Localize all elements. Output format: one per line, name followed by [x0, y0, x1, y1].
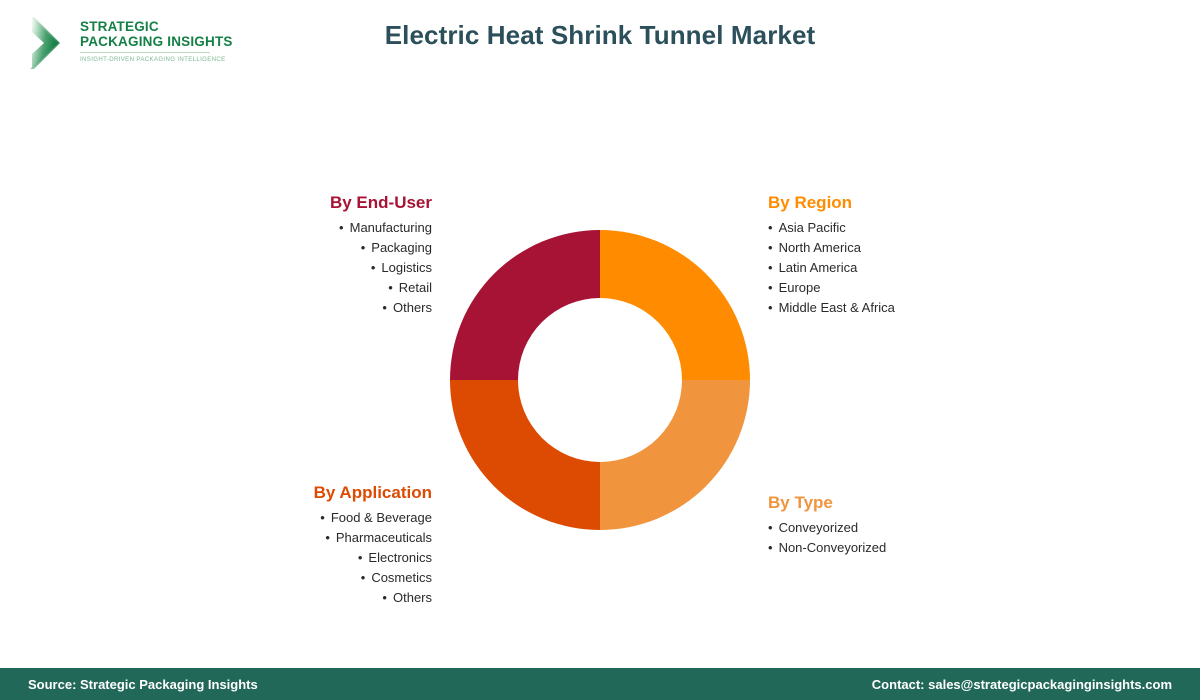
logo-tagline: INSIGHT-DRIVEN PACKAGING INTELLIGENCE [80, 56, 210, 63]
footer-contact: Contact: sales@strategicpackaginginsight… [872, 677, 1172, 692]
segment-block-application: By Application Food & Beverage Pharmaceu… [180, 483, 432, 608]
segment-list-application: Food & Beverage Pharmaceuticals Electron… [180, 508, 432, 608]
segment-block-end-user: By End-User Manufacturing Packaging Logi… [180, 193, 432, 318]
header: STRATEGIC PACKAGING INSIGHTS INSIGHT-DRI… [0, 0, 1200, 90]
donut-segment-region[interactable] [600, 230, 750, 380]
list-item: Food & Beverage [180, 508, 432, 528]
segment-title-region: By Region [768, 193, 1068, 213]
list-item: Pharmaceuticals [180, 528, 432, 548]
list-item: Others [180, 298, 432, 318]
list-item: Europe [768, 278, 1068, 298]
donut-segment-type[interactable] [600, 380, 750, 530]
list-item: Retail [180, 278, 432, 298]
donut-segment-application[interactable] [450, 380, 600, 530]
list-item: Non-Conveyorized [768, 538, 1068, 558]
segment-list-type: Conveyorized Non-Conveyorized [768, 518, 1068, 558]
segment-block-region: By Region Asia Pacific North America Lat… [768, 193, 1068, 318]
list-item: Middle East & Africa [768, 298, 1068, 318]
segment-title-application: By Application [180, 483, 432, 503]
list-item: Asia Pacific [768, 218, 1068, 238]
segment-title-end-user: By End-User [180, 193, 432, 213]
footer-source: Source: Strategic Packaging Insights [28, 677, 258, 692]
donut-chart [450, 230, 750, 530]
list-item: Manufacturing [180, 218, 432, 238]
logo-divider [80, 52, 210, 53]
page-title: Electric Heat Shrink Tunnel Market [0, 20, 1200, 51]
list-item: Logistics [180, 258, 432, 278]
list-item: Packaging [180, 238, 432, 258]
list-item: Conveyorized [768, 518, 1068, 538]
list-item: North America [768, 238, 1068, 258]
list-item: Cosmetics [180, 568, 432, 588]
segment-list-region: Asia Pacific North America Latin America… [768, 218, 1068, 318]
segment-block-type: By Type Conveyorized Non-Conveyorized [768, 493, 1068, 558]
list-item: Electronics [180, 548, 432, 568]
segment-list-end-user: Manufacturing Packaging Logistics Retail… [180, 218, 432, 318]
list-item: Others [180, 588, 432, 608]
footer-bar: Source: Strategic Packaging Insights Con… [0, 668, 1200, 700]
segment-title-type: By Type [768, 493, 1068, 513]
donut-segment-end-user[interactable] [450, 230, 600, 380]
list-item: Latin America [768, 258, 1068, 278]
